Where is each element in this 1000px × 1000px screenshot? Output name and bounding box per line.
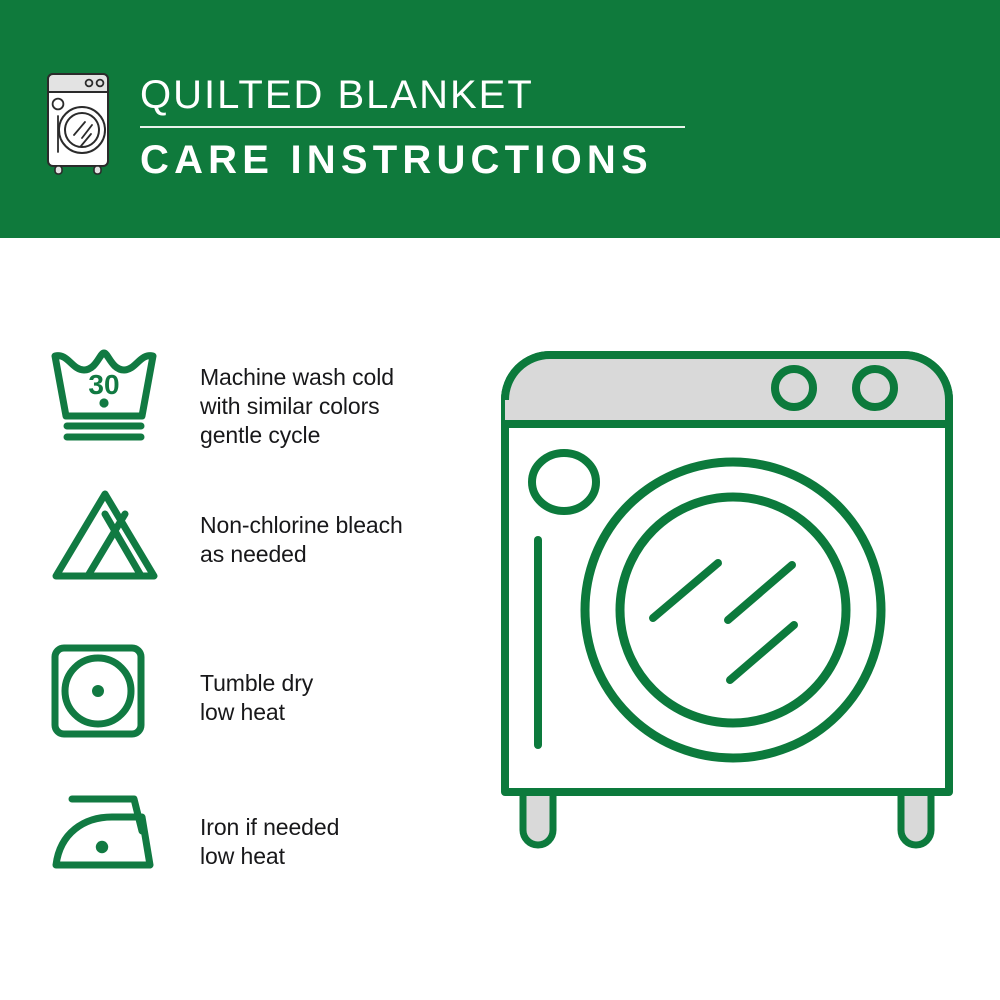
- header-title-block: QUILTED BLANKET CARE INSTRUCTIONS: [140, 72, 740, 183]
- iron-low-heat-icon: [50, 793, 162, 878]
- tumble-dry-low-heat-icon: [50, 643, 146, 744]
- page-subtitle: CARE INSTRUCTIONS: [140, 137, 740, 183]
- care-item-tumble-dry-label: Tumble dry low heat: [200, 669, 313, 727]
- wash-temperature-label: 30: [88, 369, 119, 400]
- control-panel: [505, 355, 949, 424]
- front-load-washing-machine-illustration: [480, 330, 980, 950]
- non-chlorine-bleach-triangle-icon: [50, 488, 160, 589]
- care-instruction-list: 30 Machine wash cold with similar colors…: [0, 238, 500, 1000]
- care-item-bleach-label: Non-chlorine bleach as needed: [200, 511, 403, 569]
- page-header: QUILTED BLANKET CARE INSTRUCTIONS: [0, 0, 1000, 238]
- care-item-iron-label: Iron if needed low heat: [200, 813, 339, 871]
- washing-machine-icon: [44, 68, 118, 176]
- page-title: QUILTED BLANKET: [140, 72, 740, 118]
- care-instructions-page: QUILTED BLANKET CARE INSTRUCTIONS 30: [0, 0, 1000, 1000]
- care-item-wash-label: Machine wash cold with similar colors ge…: [200, 363, 394, 450]
- wash-tub-30-icon: 30: [50, 348, 158, 449]
- title-divider: [140, 126, 685, 128]
